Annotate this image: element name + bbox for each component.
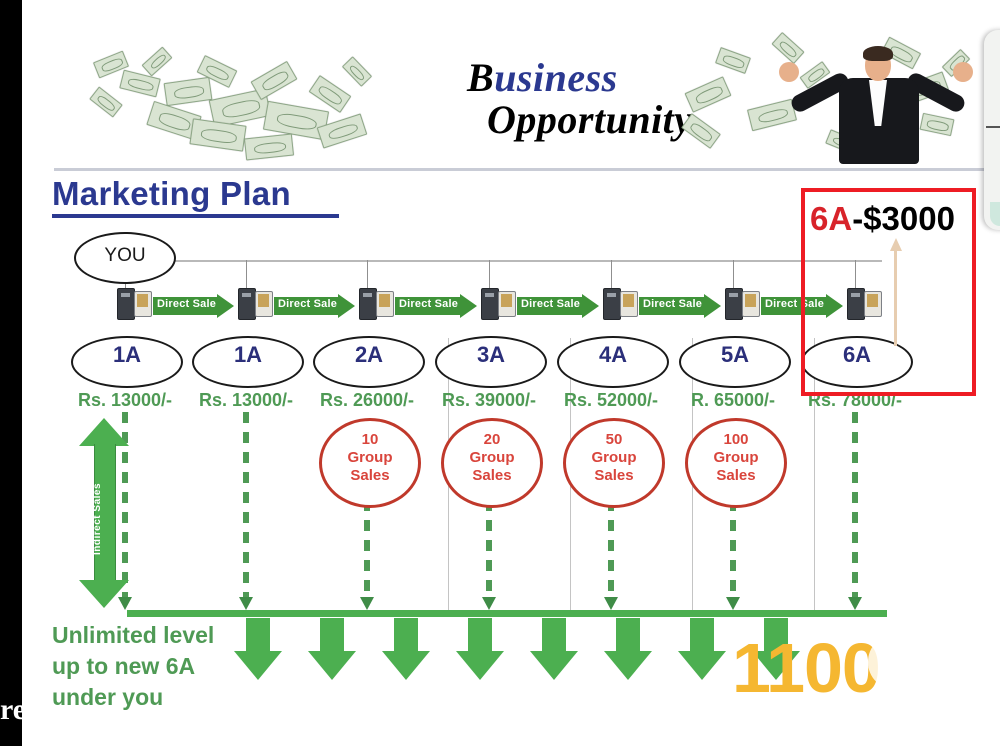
group-sales-word-2: Sales — [566, 467, 662, 485]
down-arrow-icon — [678, 618, 726, 680]
dashed-down-arrow — [486, 500, 492, 610]
highlight-level: 6A — [810, 200, 852, 237]
level-label: 5A — [681, 342, 789, 368]
direct-sale-label: Direct Sale — [643, 298, 702, 310]
direct-sale-arrow: Direct Sale — [639, 294, 721, 318]
footer-note: Unlimited level up to new 6A under you — [52, 620, 282, 713]
bottom-green-bar — [127, 610, 887, 617]
group-sales-word-1: Group — [444, 449, 540, 467]
tree-horizontal-connector — [170, 260, 882, 262]
page-title: Marketing Plan — [52, 175, 291, 213]
slide-body: Business Opportunity — [22, 0, 1000, 746]
level-amount: Rs. 26000/- — [307, 390, 427, 411]
highlight-amount: -$3000 — [852, 200, 955, 237]
group-sales-word-1: Group — [566, 449, 662, 467]
dashed-down-arrow — [730, 500, 736, 610]
banner-divider — [54, 168, 994, 171]
group-sales-count: 20 — [444, 431, 540, 449]
group-sales-word-2: Sales — [444, 467, 540, 485]
olx-watermark: INDIA — [868, 630, 1000, 710]
up-arrow-icon — [889, 238, 903, 346]
left-edge-glyph: re — [0, 690, 26, 730]
level-label: 1A — [194, 342, 302, 368]
level-node-2a-2: 2A — [313, 336, 425, 388]
tree-connector-drop — [733, 260, 734, 290]
usb-dongle-device — [984, 30, 1000, 230]
computer-tower-icon — [117, 288, 151, 322]
direct-sale-label: Direct Sale — [521, 298, 580, 310]
level-amount: Rs. 39000/- — [429, 390, 549, 411]
left-black-bar — [0, 0, 22, 746]
group-sales-word-1: Group — [322, 449, 418, 467]
tree-connector-drop — [246, 260, 247, 290]
level-node-5a-5: 5A — [679, 336, 791, 388]
dashed-down-arrow — [243, 412, 249, 610]
level-node-3a-3: 3A — [435, 336, 547, 388]
direct-sale-arrow: Direct Sale — [395, 294, 477, 318]
group-sales-count: 100 — [688, 431, 784, 449]
banner-title-rest-1: usiness — [494, 55, 618, 100]
dashed-down-arrow — [852, 412, 858, 610]
root-node-label: YOU — [76, 245, 174, 267]
level-amount: R. 65000/- — [673, 390, 793, 411]
flying-money-icon — [87, 50, 387, 150]
banner-title-rest-2: pportunity — [516, 97, 692, 142]
computer-tower-icon — [481, 288, 515, 322]
group-sales-word-1: Group — [688, 449, 784, 467]
level-label: 2A — [315, 342, 423, 368]
group-sales-badge: 50GroupSales — [563, 418, 665, 508]
page-title-underline — [52, 214, 339, 218]
level-node-1a-1: 1A — [192, 336, 304, 388]
tree-connector-drop — [489, 260, 490, 290]
computer-tower-icon — [238, 288, 272, 322]
direct-sale-arrow: Direct Sale — [274, 294, 355, 318]
group-sales-word-2: Sales — [322, 467, 418, 485]
direct-sale-label: Direct Sale — [278, 298, 337, 310]
tree-connector-drop — [367, 260, 368, 290]
highlight-label: 6A-$3000 — [810, 200, 975, 240]
banner: Business Opportunity — [77, 32, 987, 167]
level-amount: Rs. 13000/- — [186, 390, 306, 411]
group-sales-word-2: Sales — [688, 467, 784, 485]
footer-note-line-1: Unlimited level — [52, 620, 282, 651]
slide-canvas: re Busin — [0, 0, 1000, 746]
dashed-down-arrow — [608, 500, 614, 610]
computer-tower-icon — [603, 288, 637, 322]
banner-title-accent-2: O — [487, 97, 516, 142]
down-arrow-icon — [530, 618, 578, 680]
level-amount: Rs. 13000/- — [65, 390, 185, 411]
celebrating-man-image — [777, 46, 977, 164]
level-node-1a-0: 1A — [71, 336, 183, 388]
down-arrow-icon — [308, 618, 356, 680]
tree-connector-drop — [611, 260, 612, 290]
down-arrow-icon — [456, 618, 504, 680]
direct-sale-label: Direct Sale — [399, 298, 458, 310]
level-label: 1A — [73, 342, 181, 368]
footer-big-number-value: 1100 — [732, 629, 880, 707]
direct-sale-label: Direct Sale — [157, 298, 216, 310]
direct-sale-arrow: Direct Sale — [517, 294, 599, 318]
level-label: 3A — [437, 342, 545, 368]
root-node-you: YOU — [74, 232, 176, 284]
down-arrow-icon — [382, 618, 430, 680]
level-node-4a-4: 4A — [557, 336, 669, 388]
level-label: 4A — [559, 342, 667, 368]
group-sales-badge: 20GroupSales — [441, 418, 543, 508]
group-sales-badge: 10GroupSales — [319, 418, 421, 508]
level-amount: Rs. 52000/- — [551, 390, 671, 411]
dashed-down-arrow — [364, 500, 370, 610]
group-sales-count: 10 — [322, 431, 418, 449]
watermark-region: INDIA — [928, 694, 982, 706]
double-headed-vertical-arrow-icon: Indirect Sales — [79, 418, 129, 608]
footer-note-line-2: up to new 6A — [52, 651, 282, 682]
group-sales-badge: 100GroupSales — [685, 418, 787, 508]
computer-tower-icon — [725, 288, 759, 322]
down-arrow-icon — [604, 618, 652, 680]
direct-sale-arrow: Direct Sale — [153, 294, 234, 318]
group-sales-count: 50 — [566, 431, 662, 449]
computer-tower-icon — [359, 288, 393, 322]
banner-title-accent-1: B — [467, 55, 494, 100]
footer-note-line-3: under you — [52, 682, 282, 713]
indirect-sales-label: Indirect Sales — [92, 474, 116, 564]
